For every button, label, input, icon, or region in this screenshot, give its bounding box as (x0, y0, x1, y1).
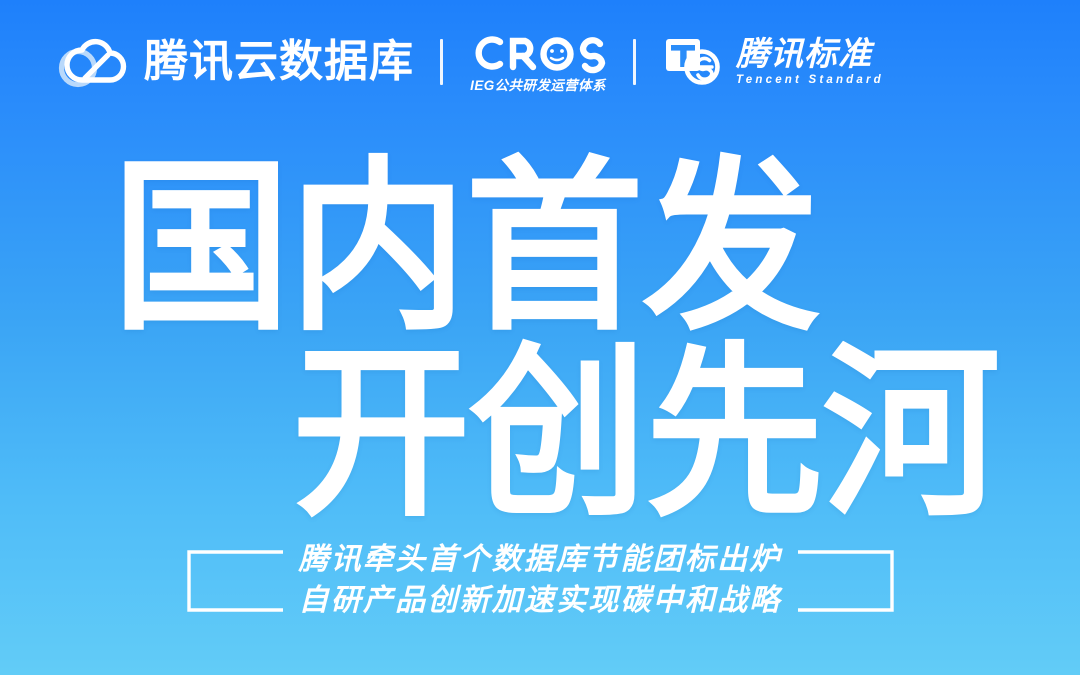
headline-line-1: 国内首发 (112, 158, 1041, 340)
tencent-standard-logo: 腾讯标准 Tencent Standard (662, 36, 884, 88)
subtitle-line-2: 自研产品创新加速实现碳中和战略 (299, 581, 782, 622)
logo-bar: 腾讯云数据库 (52, 28, 884, 96)
tencent-cloud-icon (52, 34, 130, 90)
headline-block: 国内首发 开创先河 (0, 158, 1080, 527)
cros-mark-icon (469, 32, 607, 74)
tencent-standard-title-cn: 腾讯标准 (736, 37, 884, 72)
tencent-cloud-wordmark: 腾讯云数据库 (144, 40, 414, 84)
logo-divider-1 (440, 39, 443, 85)
subtitle-lines: 腾讯牵头首个数据库节能团标出炉 自研产品创新加速实现碳中和战略 (299, 540, 782, 621)
tencent-standard-text: 腾讯标准 Tencent Standard (736, 37, 884, 86)
tencent-cloud-logo: 腾讯云数据库 (52, 34, 414, 90)
cros-subtitle: IEG公共研发运营体系 (470, 79, 606, 93)
tencent-standard-title-en: Tencent Standard (736, 75, 884, 87)
cros-logo: IEG公共研发运营体系 (469, 32, 607, 93)
headline-line-2: 开创先河 (292, 344, 1048, 526)
subtitle-line-1: 腾讯牵头首个数据库节能团标出炉 (299, 540, 782, 581)
subtitle-block: 腾讯牵头首个数据库节能团标出炉 自研产品创新加速实现碳中和战略 (0, 540, 1080, 621)
bracket-right-icon (796, 542, 896, 620)
bracket-left-icon (185, 542, 285, 620)
promo-poster: 腾讯云数据库 (0, 0, 1080, 675)
ts-monogram-icon (662, 36, 724, 88)
logo-divider-2 (633, 39, 636, 85)
